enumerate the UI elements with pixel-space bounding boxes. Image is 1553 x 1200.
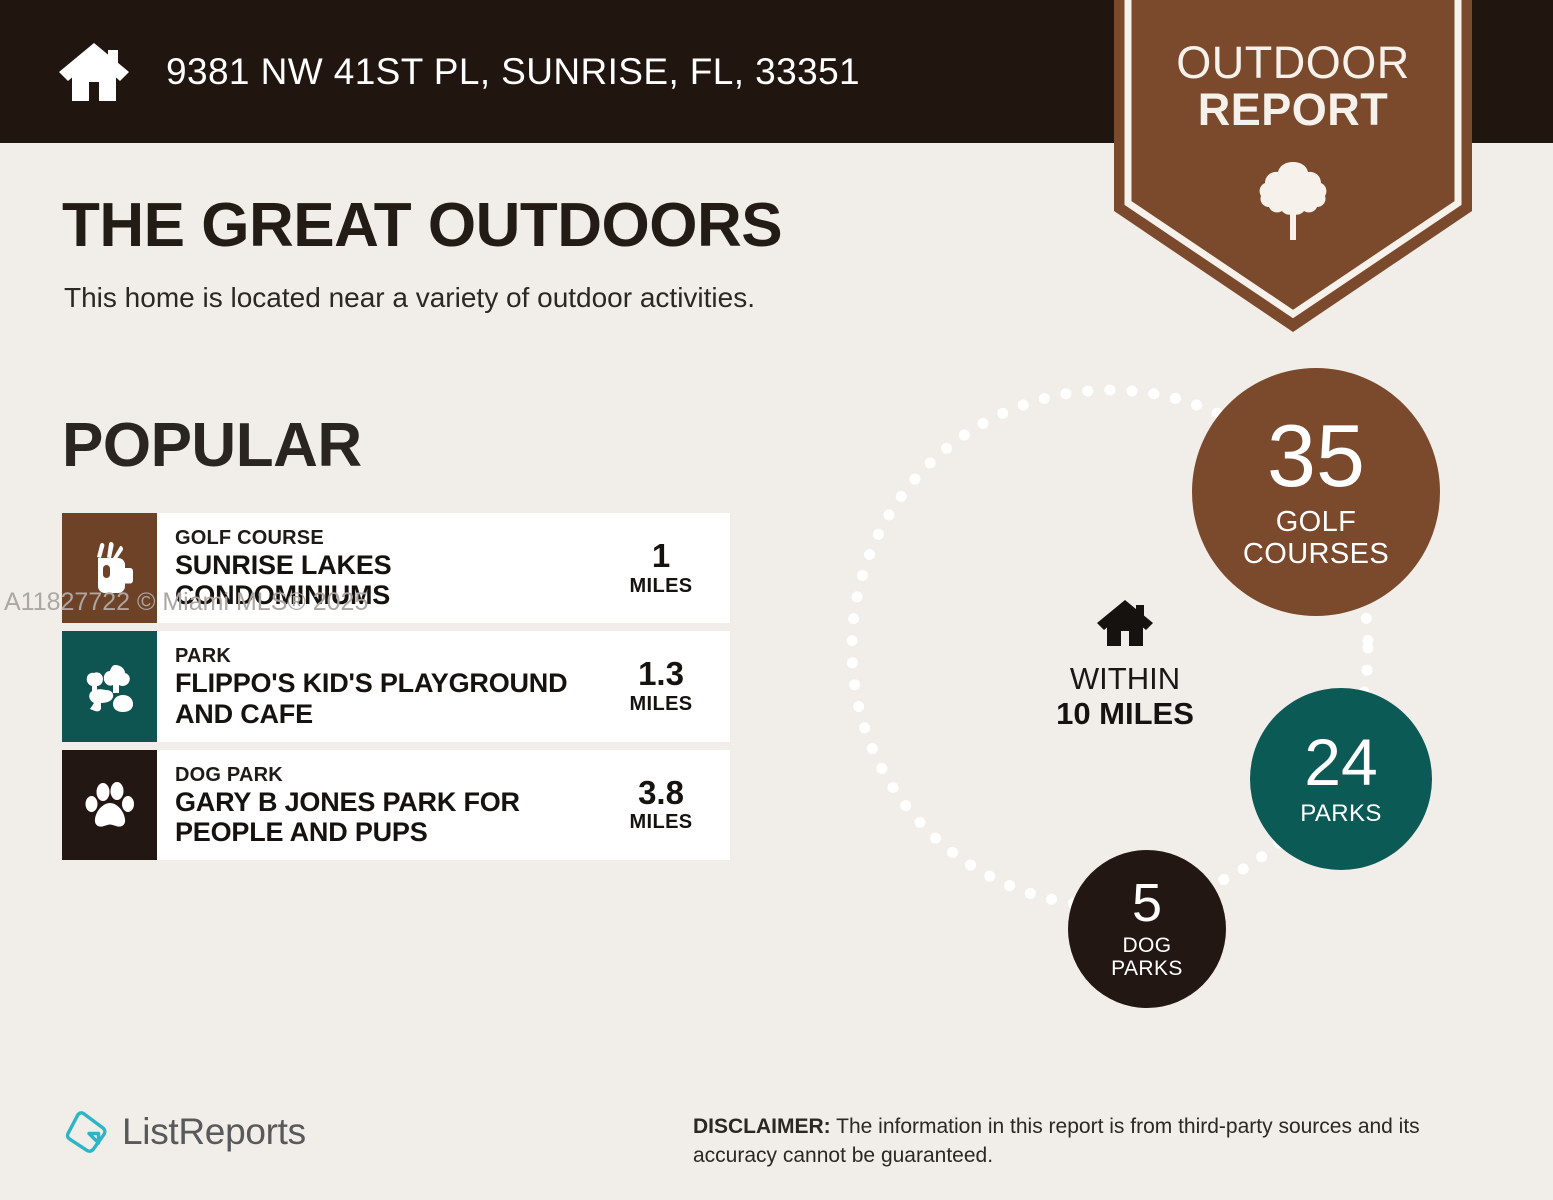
poi-distance-unit: MILES — [629, 692, 692, 716]
stat-label: GOLF COURSES — [1243, 507, 1389, 570]
center-label-line1: WITHIN — [1020, 662, 1230, 697]
poi-body: PARK FLIPPO'S KID'S PLAYGROUND AND CAFE — [157, 631, 606, 741]
poi-name: FLIPPO'S KID'S PLAYGROUND AND CAFE — [175, 668, 606, 728]
list-item[interactable]: DOG PARK GARY B JONES PARK FOR PEOPLE AN… — [62, 750, 730, 860]
poi-distance-unit: MILES — [629, 574, 692, 598]
poi-name: GARY B JONES PARK FOR PEOPLE AND PUPS — [175, 787, 606, 847]
listreports-house-tag-icon — [62, 1108, 110, 1156]
listreports-logo-text: ListReports — [122, 1111, 306, 1153]
stat-label-line1: DOG — [1122, 934, 1171, 957]
poi-body: DOG PARK GARY B JONES PARK FOR PEOPLE AN… — [157, 750, 606, 860]
center-label-line2: 10 MILES — [1020, 697, 1230, 732]
poi-distance: 1 MILES — [606, 513, 730, 623]
mls-watermark: A11827722 © Miami MLS® 2025 — [4, 588, 368, 617]
stat-value: 5 — [1132, 878, 1162, 929]
stat-value: 35 — [1267, 414, 1365, 498]
popular-heading: POPULAR — [62, 410, 362, 481]
disclaimer-label: DISCLAIMER: — [693, 1115, 831, 1138]
list-item[interactable]: PARK FLIPPO'S KID'S PLAYGROUND AND CAFE … — [62, 631, 730, 741]
stat-label: DOG PARKS — [1111, 935, 1183, 980]
tree-icon — [1257, 160, 1329, 242]
stat-bubble-golf-courses[interactable]: 35 GOLF COURSES — [1192, 368, 1440, 616]
page-title: THE GREAT OUTDOORS — [62, 190, 782, 261]
outdoor-report-badge: OUTDOOR REPORT — [1114, 0, 1472, 332]
stat-value: 24 — [1304, 731, 1377, 794]
popular-list: GOLF COURSE SUNRISE LAKES CONDOMINIUMS 1… — [62, 513, 730, 868]
stat-label-line1: GOLF — [1276, 506, 1357, 538]
stat-label-line2: PARKS — [1111, 957, 1183, 980]
listreports-logo[interactable]: ListReports — [62, 1108, 306, 1156]
poi-category: PARK — [175, 644, 606, 668]
stat-bubble-dog-parks[interactable]: 5 DOG PARKS — [1068, 850, 1226, 1008]
stat-label: PARKS — [1300, 801, 1382, 827]
header-address: 9381 NW 41ST PL, SUNRISE, FL, 33351 — [166, 51, 860, 93]
poi-distance: 3.8 MILES — [606, 750, 730, 860]
park-trees-icon — [82, 659, 138, 715]
poi-icon-box — [62, 750, 157, 860]
page-subtitle: This home is located near a variety of o… — [64, 282, 755, 314]
poi-icon-box — [62, 631, 157, 741]
stat-bubble-parks[interactable]: 24 PARKS — [1250, 688, 1432, 870]
poi-category: GOLF COURSE — [175, 526, 606, 550]
poi-distance-value: 3.8 — [638, 776, 684, 811]
poi-distance: 1.3 MILES — [606, 631, 730, 741]
disclaimer: DISCLAIMER: The information in this repo… — [693, 1113, 1493, 1171]
poi-distance-value: 1 — [652, 539, 670, 574]
poi-distance-unit: MILES — [629, 810, 692, 834]
paw-print-icon — [83, 778, 137, 832]
home-icon — [1096, 598, 1154, 648]
outdoor-stats-chart: 35 GOLF COURSES 24 PARKS 5 DOG PARKS WIT… — [820, 350, 1500, 1050]
poi-distance-value: 1.3 — [638, 657, 684, 692]
home-icon — [58, 40, 130, 104]
stat-label-line2: COURSES — [1243, 538, 1389, 570]
poi-category: DOG PARK — [175, 763, 606, 787]
center-radius-marker: WITHIN 10 MILES — [1020, 598, 1230, 731]
